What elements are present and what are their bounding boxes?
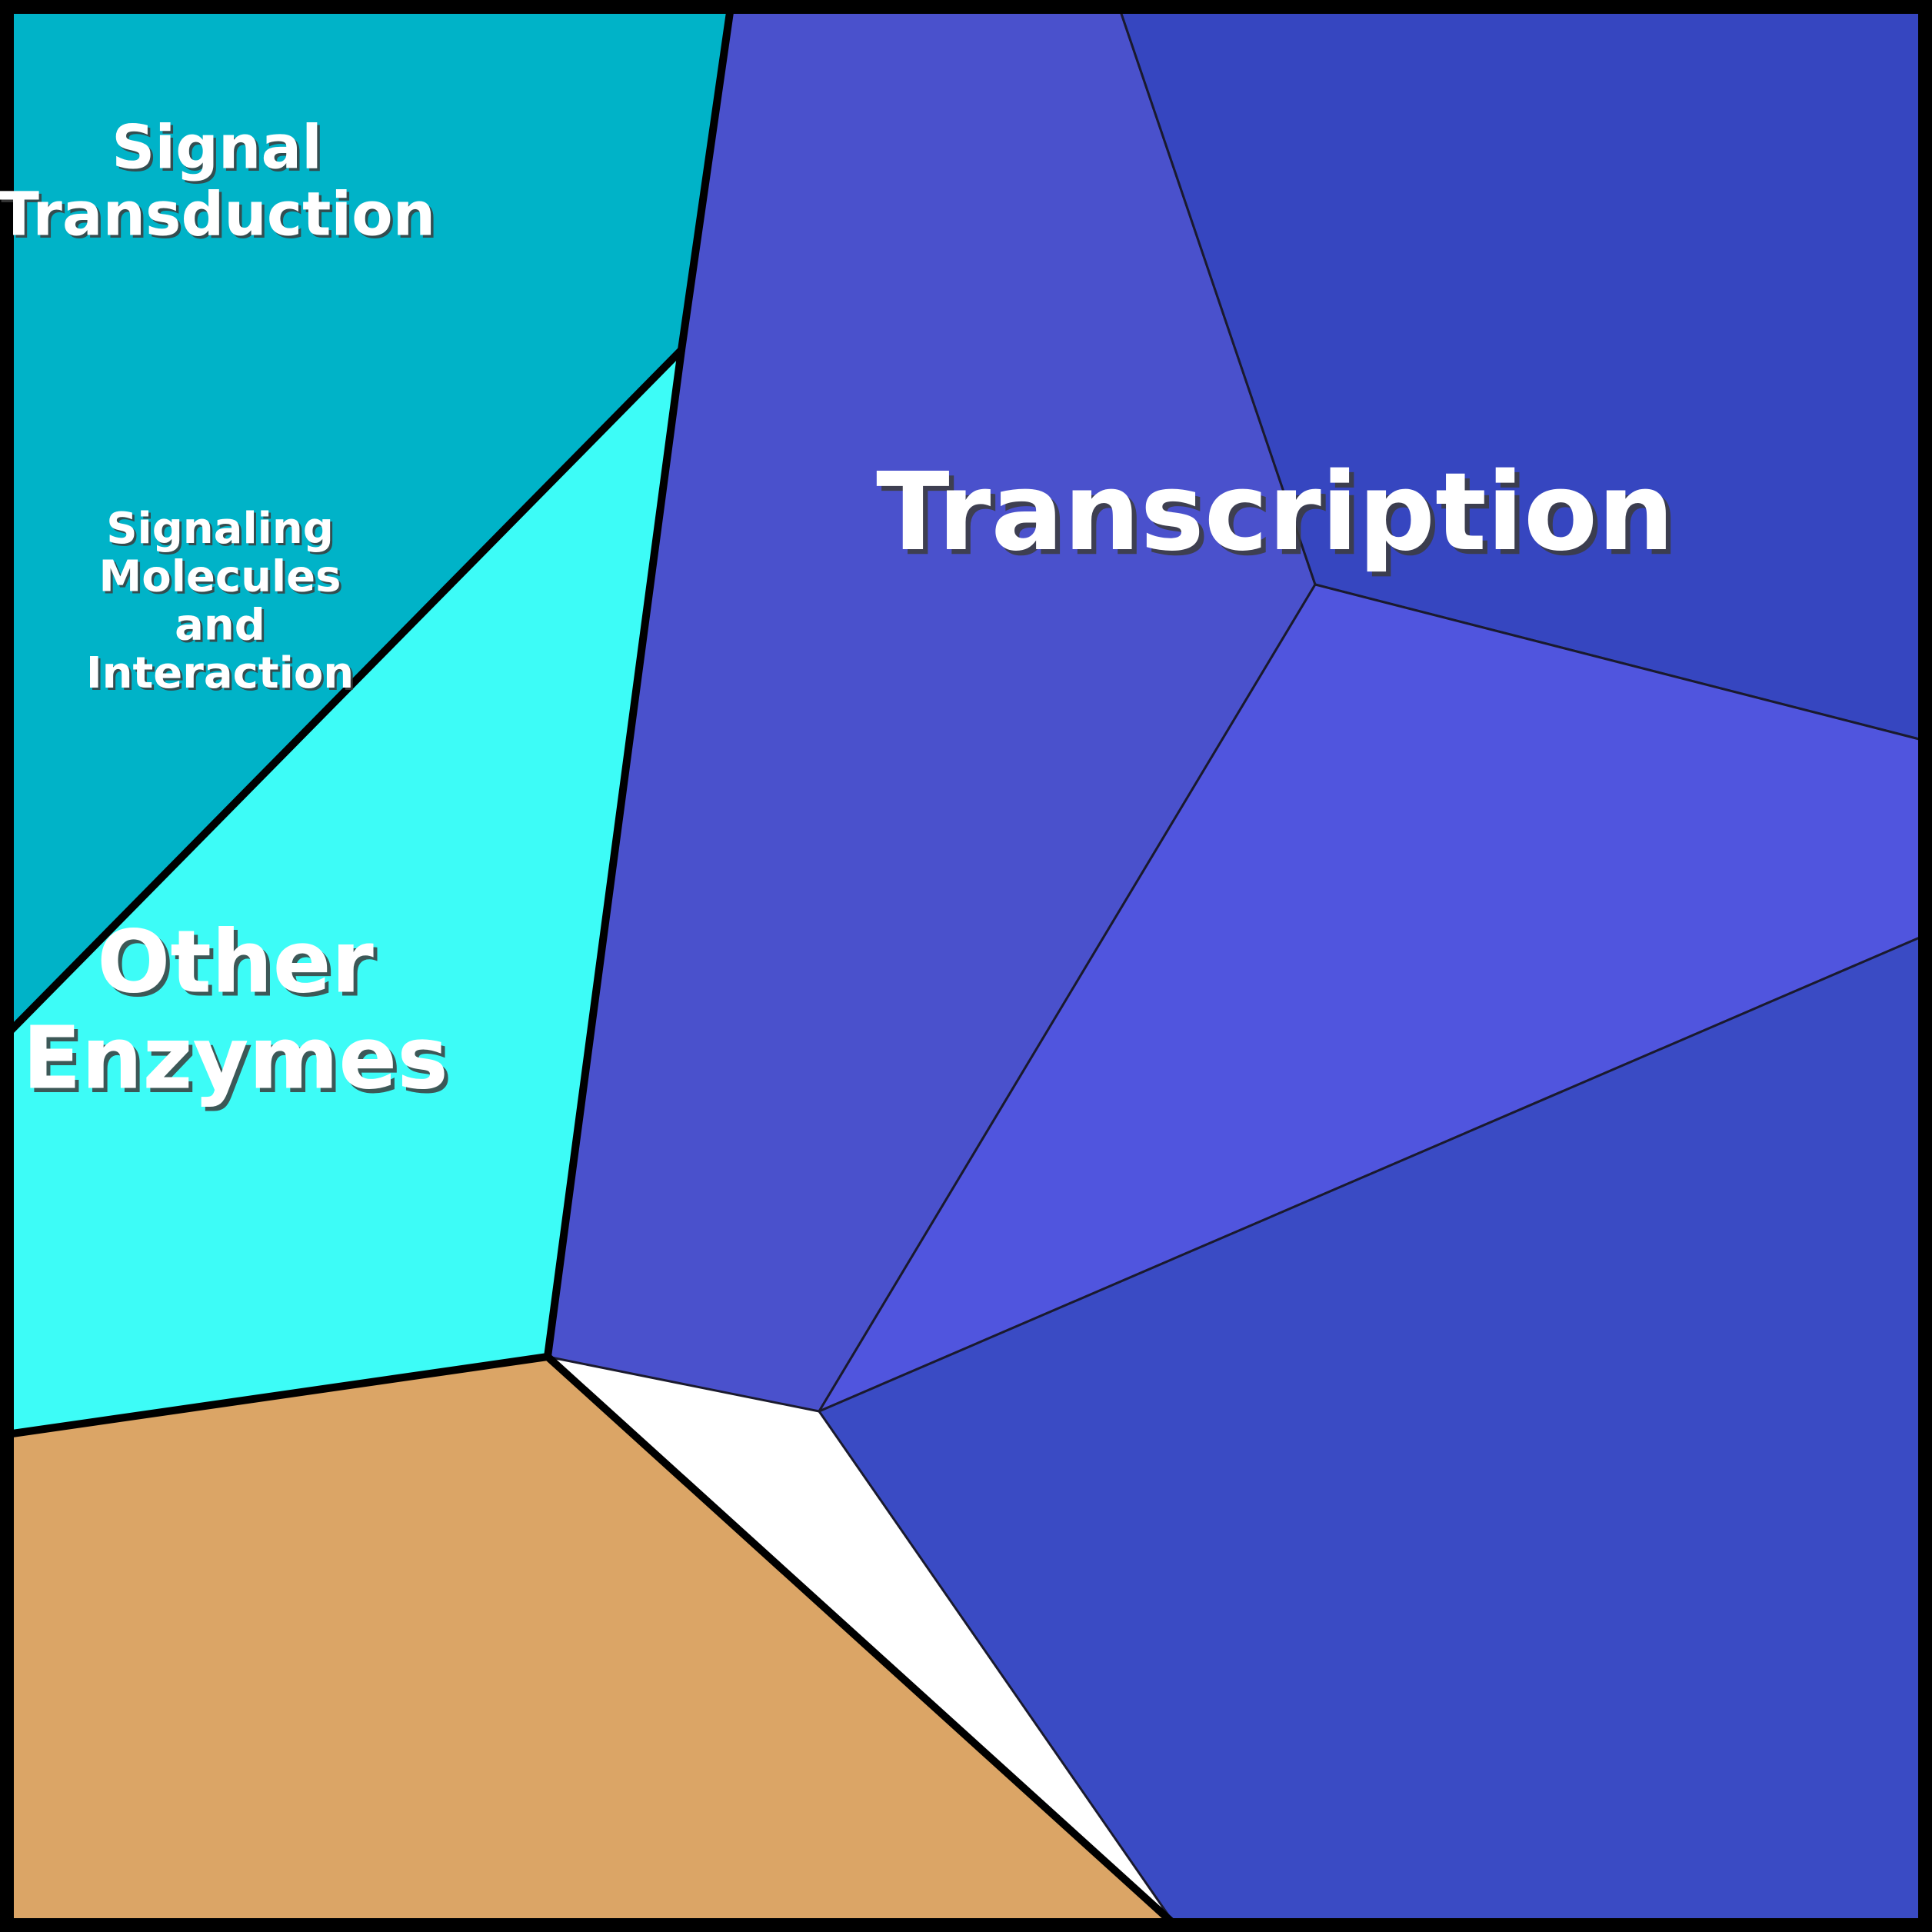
voronoi-treemap-figure: SignalTransductionSignalTransductionSign… — [0, 0, 1932, 1932]
cell-label-text-transcription: Transcription — [876, 450, 1674, 575]
voronoi-canvas: SignalTransductionSignalTransductionSign… — [0, 0, 1932, 1932]
cell-label-signaling-molecules-and-interaction: SignalingMoleculesandInteractionSignalin… — [86, 504, 356, 701]
cell-label-text-signaling-molecules-and-interaction: SignalingMoleculesandInteraction — [86, 504, 354, 698]
cell-label-transcription: TranscriptionTranscription — [876, 450, 1679, 580]
